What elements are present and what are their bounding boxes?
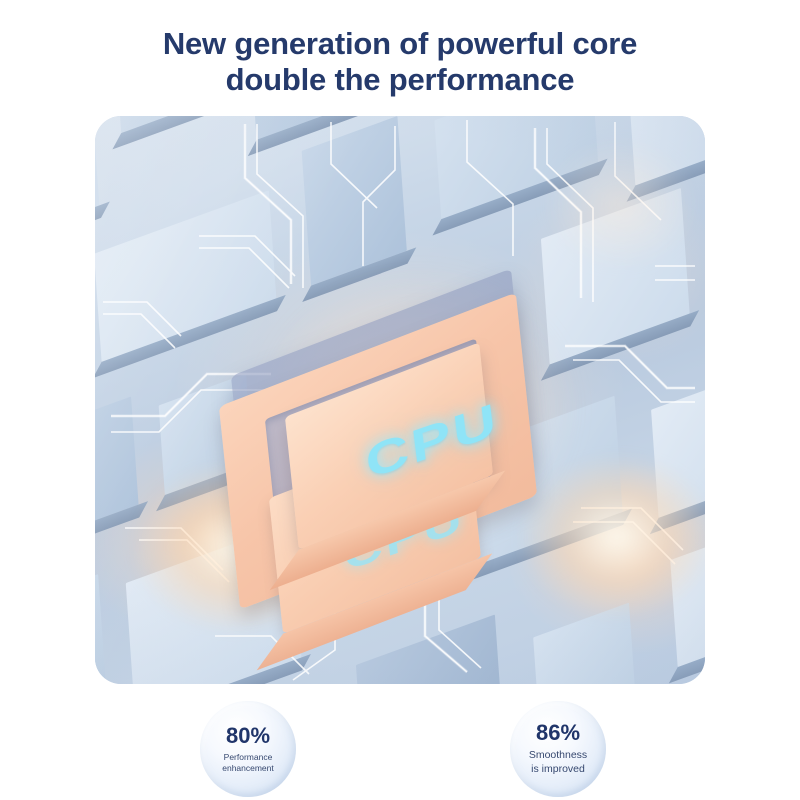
stat-caption: Performance enhancement (222, 752, 274, 773)
board-block (434, 116, 598, 219)
board-block (628, 116, 705, 185)
board-block (95, 116, 100, 256)
hero-image-panel: CPU CPU (95, 116, 705, 684)
stat-caption: Smoothness is improved (529, 749, 587, 775)
page-title-line-2: double the performance (0, 62, 800, 98)
board-block (116, 116, 226, 133)
board-block (533, 602, 637, 684)
board-block (356, 614, 503, 684)
stat-value: 86% (536, 722, 580, 744)
board-block (671, 505, 705, 667)
stat-value: 80% (226, 725, 270, 747)
stat-badge-smoothness: 86% Smoothness is improved (510, 701, 606, 797)
cpu-assembly: CPU CPU (213, 246, 593, 546)
board-block (95, 574, 107, 684)
stat-badge-performance: 80% Performance enhancement (200, 701, 296, 797)
board-block (651, 362, 705, 517)
page-title: New generation of powerful core double t… (0, 26, 800, 99)
page-title-line-1: New generation of powerful core (0, 26, 800, 62)
board-block (95, 397, 139, 559)
